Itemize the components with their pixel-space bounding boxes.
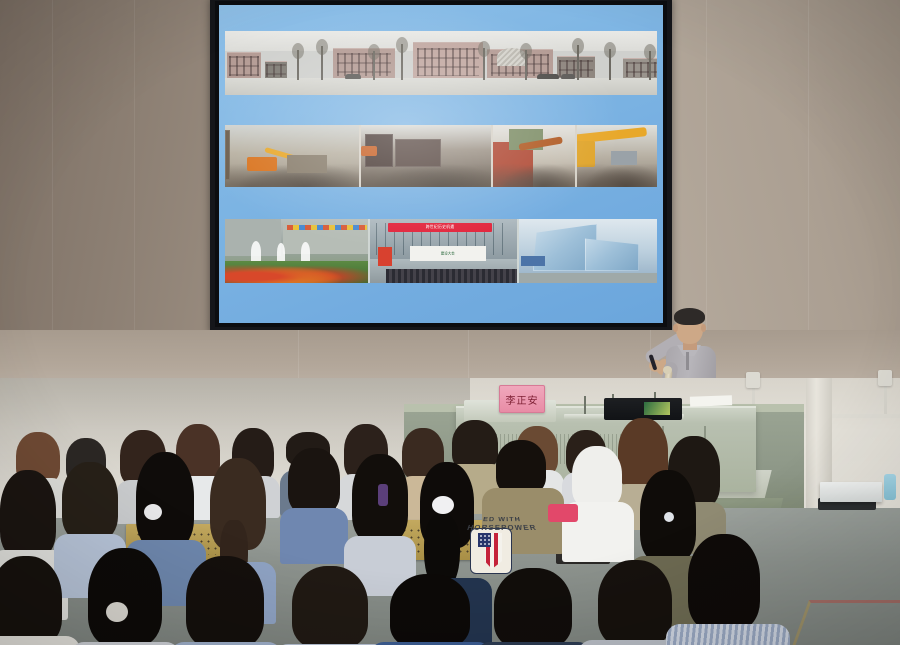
upper-left-wall — [0, 0, 232, 372]
ceremony-sign: 建设大会 — [410, 246, 486, 261]
jacket-flag-patch — [470, 528, 512, 574]
wall-speaker-right — [878, 370, 892, 386]
lecture-monitor — [604, 398, 682, 420]
laser-pointer-icon — [649, 354, 658, 370]
ceremony-banner: 跨世纪历史机遇 — [388, 223, 492, 232]
projection-screen: 跨世纪历史机遇 建设大会 — [210, 0, 672, 332]
slide-panel-new-campus: 跨世纪历史机遇 建设大会 — [225, 219, 657, 283]
floor-marking — [791, 600, 900, 645]
slide-panel-demolition — [225, 125, 657, 187]
projection-screen-surface: 跨世纪历史机遇 建设大会 — [219, 5, 663, 323]
water-bottle — [884, 474, 896, 500]
wall-speaker — [746, 372, 760, 388]
paper-sheet — [690, 395, 732, 406]
lecture-hall-photo: 跨世纪历史机遇 建设大会 — [0, 0, 900, 645]
cardboard-box — [820, 482, 882, 502]
name-placard: 李正安 — [499, 385, 545, 413]
slide-panel-historic-campus — [225, 31, 657, 95]
pink-item — [548, 504, 578, 522]
gooseneck-mic — [584, 396, 586, 414]
